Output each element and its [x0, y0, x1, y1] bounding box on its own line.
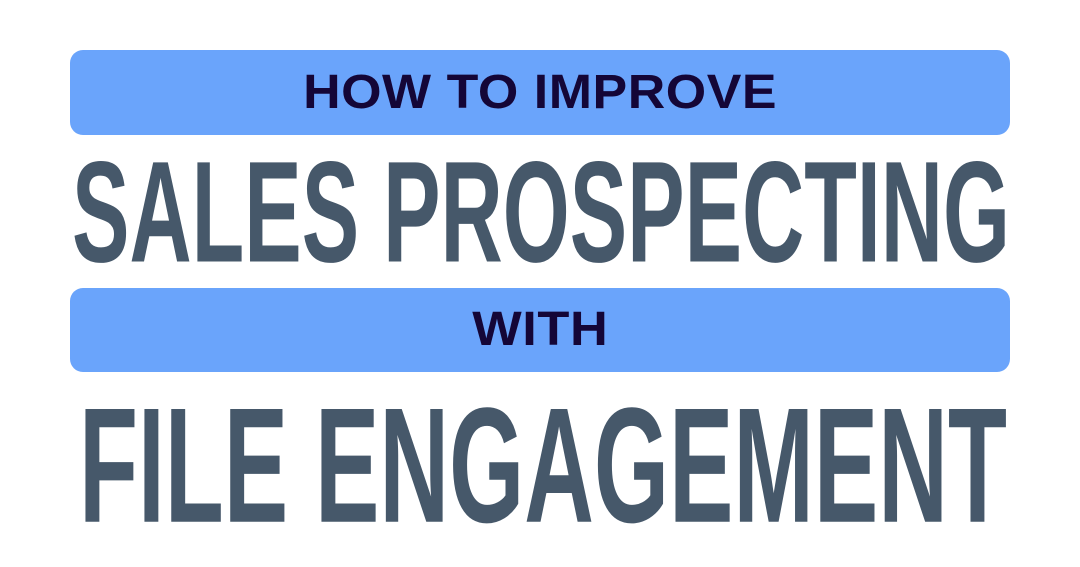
connector-banner: WITH: [70, 288, 1010, 372]
eyebrow-banner: HOW TO IMPROVE: [70, 50, 1010, 135]
headline-line-2: FILE ENGAGEMENT: [79, 384, 1007, 548]
title-card-poster: HOW TO IMPROVE SALES PROSPECTING WITH FI…: [0, 0, 1080, 567]
headline-line-1: SALES PROSPECTING: [72, 141, 1010, 285]
eyebrow-label: HOW TO IMPROVE: [303, 69, 777, 117]
connector-label: WITH: [472, 306, 608, 354]
